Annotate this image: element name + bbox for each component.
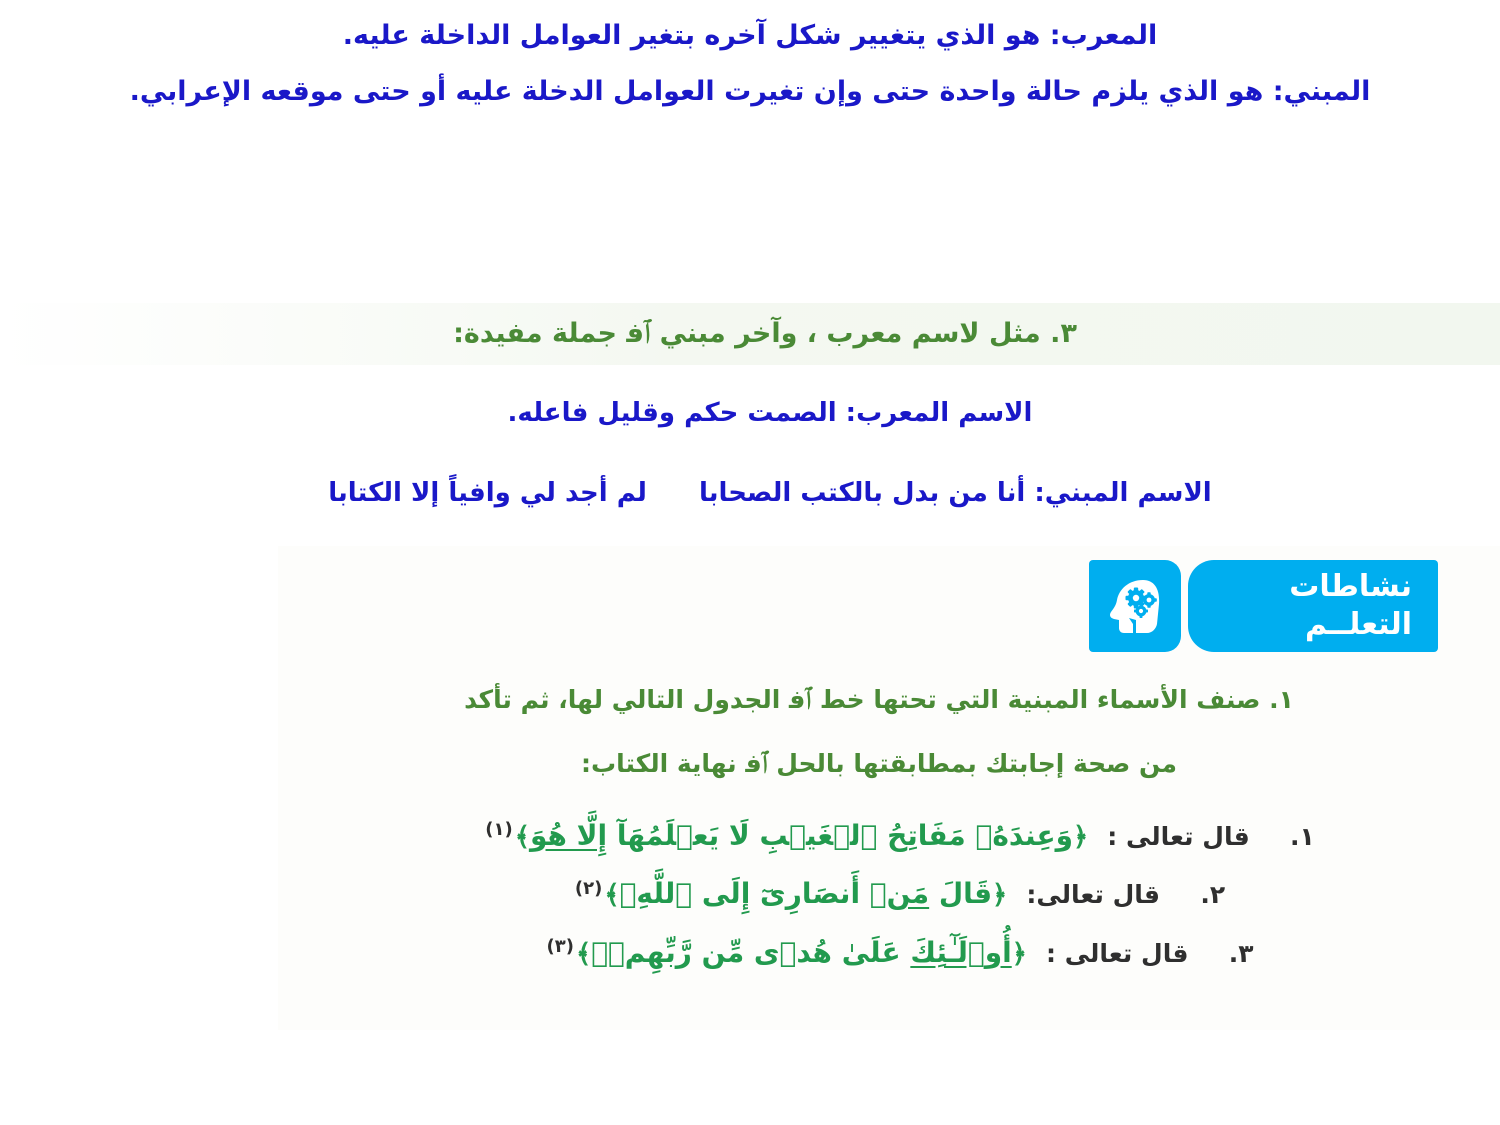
example-mabni-label: الاسم المبني: <box>1034 478 1211 508</box>
verse-footnote-marker: (١) <box>485 819 512 840</box>
badge-label-line1: نشاطات <box>1234 568 1412 606</box>
quote-open-bracket: ﴿ <box>1012 939 1027 969</box>
verse-footnote-marker: (٢) <box>575 878 602 899</box>
badge-label: نشاطات التعلــم <box>1188 560 1438 652</box>
verse-quote: ﴿وَعِندَهُۥ مَفَاتِحُ ٱلۡغَيۡبِ لَا يَعۡ… <box>515 819 1089 852</box>
learning-activities-badge: نشاطات التعلــم <box>1089 560 1438 652</box>
quote-close-bracket: ﴾ <box>515 822 530 852</box>
quote-open-bracket: ﴿ <box>1073 822 1088 852</box>
verse-item: ٣. قال تعالى : ﴿أُو۟لَـٰٓئِكَ عَلَىٰ هُد… <box>278 921 1500 980</box>
example-mabni-hemistich-2: لم أجد لي وافياً إلا الكتابا <box>328 478 647 508</box>
task-instruction-line2: من صحة إجابتك بمطابقتها بالحل ﭐﻓ نهاية ا… <box>288 732 1470 796</box>
highlighted-prompt-strip: ٣. مثل لاسم معرب ، وآخر مبني ﭐﻓ جملة مفي… <box>0 303 1500 365</box>
verse-item: ١. قال تعالى : ﴿وَعِندَهُۥ مَفَاتِحُ ٱلۡ… <box>278 804 1500 863</box>
verse-text-before: قَالَ <box>929 877 992 910</box>
quote-close-bracket: ﴾ <box>576 939 591 969</box>
verse-text-after: عَلَىٰ هُدࣰى مِّن رَّبِّهِمۡۖ <box>591 936 910 969</box>
verse-number: ٣. <box>1208 928 1254 980</box>
verse-lead-in: قال تعالى : <box>1046 928 1188 980</box>
learning-activities-card: نشاطات التعلــم <box>278 546 1500 1030</box>
badge-label-line2: التعلــم <box>1234 606 1412 644</box>
verse-lead-in: قال تعالى : <box>1107 811 1249 863</box>
verse-quote: ﴿قَالَ مَنۡ أَنصَارِیٓ إِلَى ٱللَّهِۖ﴾ <box>604 877 1007 910</box>
verse-number: ١. <box>1269 811 1315 863</box>
task-instruction-line1: ١. صنف الأسماء المبنية التي تحتها خط ﭐﻓ … <box>288 668 1470 732</box>
verse-underlined-word: إِلَّا هُوَ <box>530 819 607 852</box>
quote-open-bracket: ﴿ <box>992 880 1007 910</box>
verse-text-after: أَنصَارِیٓ إِلَى ٱللَّهِۖ <box>620 877 870 910</box>
definitions-block: المعرب: هو الذي يتغيير شكل آخره بتغير ال… <box>0 0 1500 120</box>
verse-underlined-word: أُو۟لَـٰٓئِكَ <box>910 936 1011 969</box>
example-muarab: الاسم المعرب: الصمت حكم وقليل فاعله. <box>0 398 1500 428</box>
verse-underlined-word: مَنۡ <box>870 877 929 910</box>
task-instruction: ١. صنف الأسماء المبنية التي تحتها خط ﭐﻓ … <box>278 668 1480 796</box>
verse-number: ٢. <box>1179 869 1225 921</box>
highlighted-prompt-text: ٣. مثل لاسم معرب ، وآخر مبني ﭐﻓ جملة مفي… <box>0 318 1500 350</box>
example-mabni: الاسم المبني: أنا من بدل بالكتب الصحابا … <box>0 478 1500 508</box>
quote-close-bracket: ﴾ <box>604 880 619 910</box>
verse-list: ١. قال تعالى : ﴿وَعِندَهُۥ مَفَاتِحُ ٱلۡ… <box>278 804 1500 980</box>
verse-text-before: وَعِندَهُۥ مَفَاتِحُ ٱلۡغَيۡبِ لَا يَعۡل… <box>607 819 1073 852</box>
verse-lead-in: قال تعالى: <box>1026 869 1160 921</box>
verse-quote: ﴿أُو۟لَـٰٓئِكَ عَلَىٰ هُدࣰى مِّن رَّبِّه… <box>576 936 1027 969</box>
verse-footnote-marker: (٣) <box>546 936 573 957</box>
definition-muarab: المعرب: هو الذي يتغيير شكل آخره بتغير ال… <box>34 8 1466 64</box>
example-mabni-hemistich-1: أنا من بدل بالكتب الصحابا <box>699 478 1025 508</box>
head-with-gears-icon <box>1089 560 1181 652</box>
verse-item: ٢. قال تعالى: ﴿قَالَ مَنۡ أَنصَارِیٓ إِل… <box>278 863 1500 922</box>
definition-mabni: المبني: هو الذي يلزم حالة واحدة حتى وإن … <box>34 64 1466 120</box>
document-page: المعرب: هو الذي يتغيير شكل آخره بتغير ال… <box>0 0 1500 1125</box>
